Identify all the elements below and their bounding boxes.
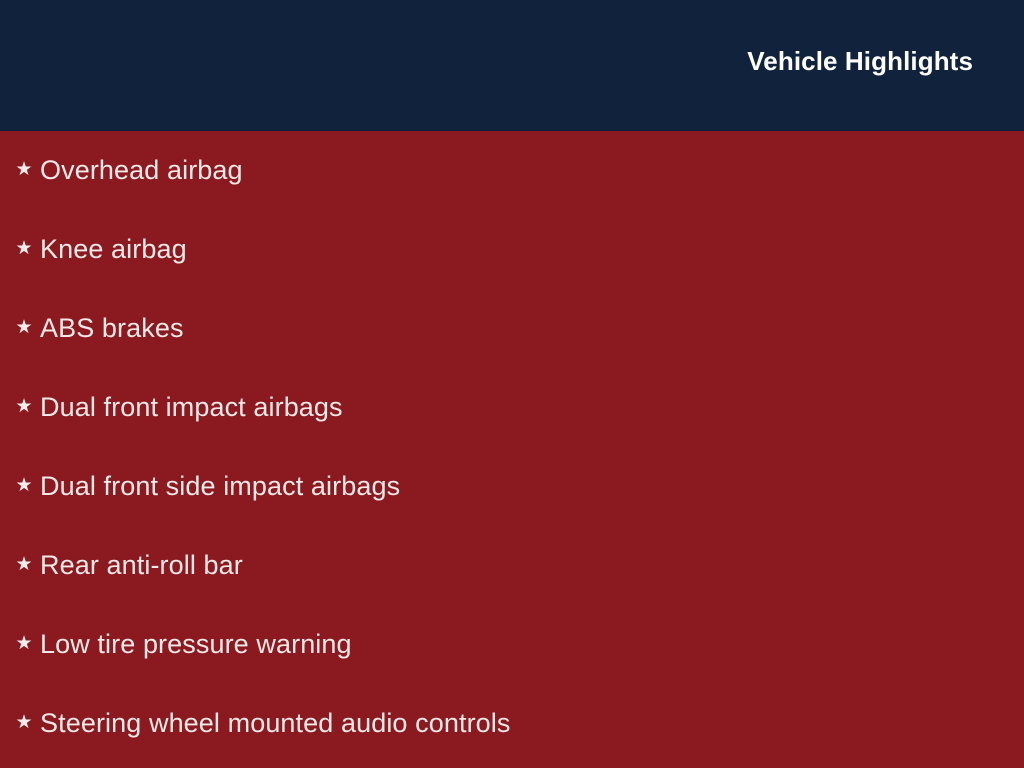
star-icon: ★ [8,318,40,337]
star-icon: ★ [8,239,40,258]
list-item: ★ Overhead airbag [0,131,1024,210]
list-item: ★ Steering wheel mounted audio controls [0,684,1024,763]
star-icon: ★ [8,555,40,574]
vehicle-highlights-slide: Vehicle Highlights ★ Overhead airbag ★ K… [0,0,1024,768]
list-item-label: Overhead airbag [40,155,243,186]
list-item-label: Low tire pressure warning [40,629,352,660]
list-item: ★ Dual front impact airbags [0,368,1024,447]
list-item: ★ Rear anti-roll bar [0,526,1024,605]
page-title: Vehicle Highlights [747,47,973,76]
list-item-label: Dual front impact airbags [40,392,343,423]
list-item-label: ABS brakes [40,313,184,344]
list-item: ★ Knee airbag [0,210,1024,289]
star-icon: ★ [8,476,40,495]
list-item-label: Dual front side impact airbags [40,471,400,502]
slide-body: ★ Overhead airbag ★ Knee airbag ★ ABS br… [0,131,1024,768]
star-icon: ★ [8,713,40,732]
list-item: ★ Dual front side impact airbags [0,447,1024,526]
list-item-label: Rear anti-roll bar [40,550,243,581]
slide-header-band: Vehicle Highlights [0,0,1024,131]
star-icon: ★ [8,634,40,653]
list-item-label: Steering wheel mounted audio controls [40,708,511,739]
list-item-label: Knee airbag [40,234,187,265]
star-icon: ★ [8,160,40,179]
vehicle-highlights-list: ★ Overhead airbag ★ Knee airbag ★ ABS br… [0,131,1024,763]
list-item: ★ ABS brakes [0,289,1024,368]
list-item: ★ Low tire pressure warning [0,605,1024,684]
star-icon: ★ [8,397,40,416]
